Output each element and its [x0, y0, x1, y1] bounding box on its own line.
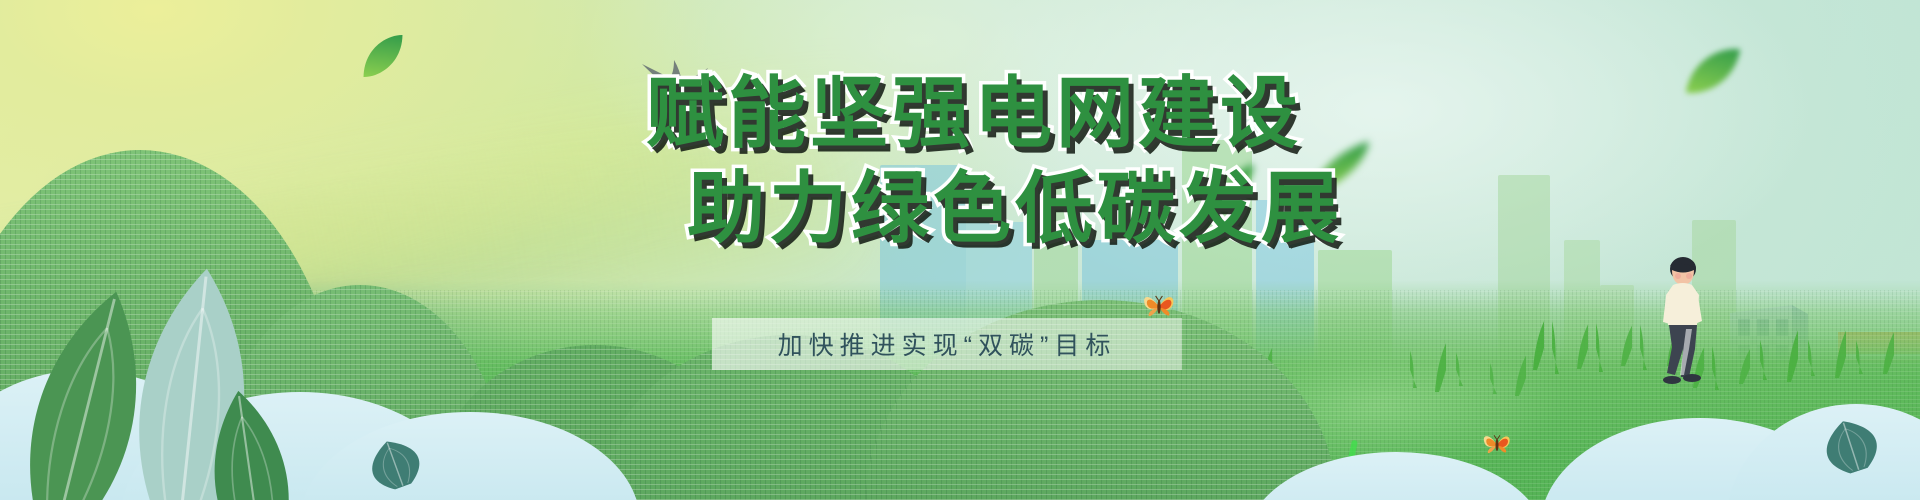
subtitle-text: 加快推进实现“双碳”目标 [778, 326, 1117, 362]
subtitle-panel: 加快推进实现“双碳”目标 [712, 318, 1182, 370]
eco-power-grid-banner: 赋能坚强电网建设 助力绿色低碳发展 加快推进实现“双碳”目标 [0, 0, 1920, 500]
swallow-bird-icon [634, 58, 726, 118]
butterflies-group [0, 0, 1920, 500]
butterfly-lower [1482, 430, 1512, 460]
